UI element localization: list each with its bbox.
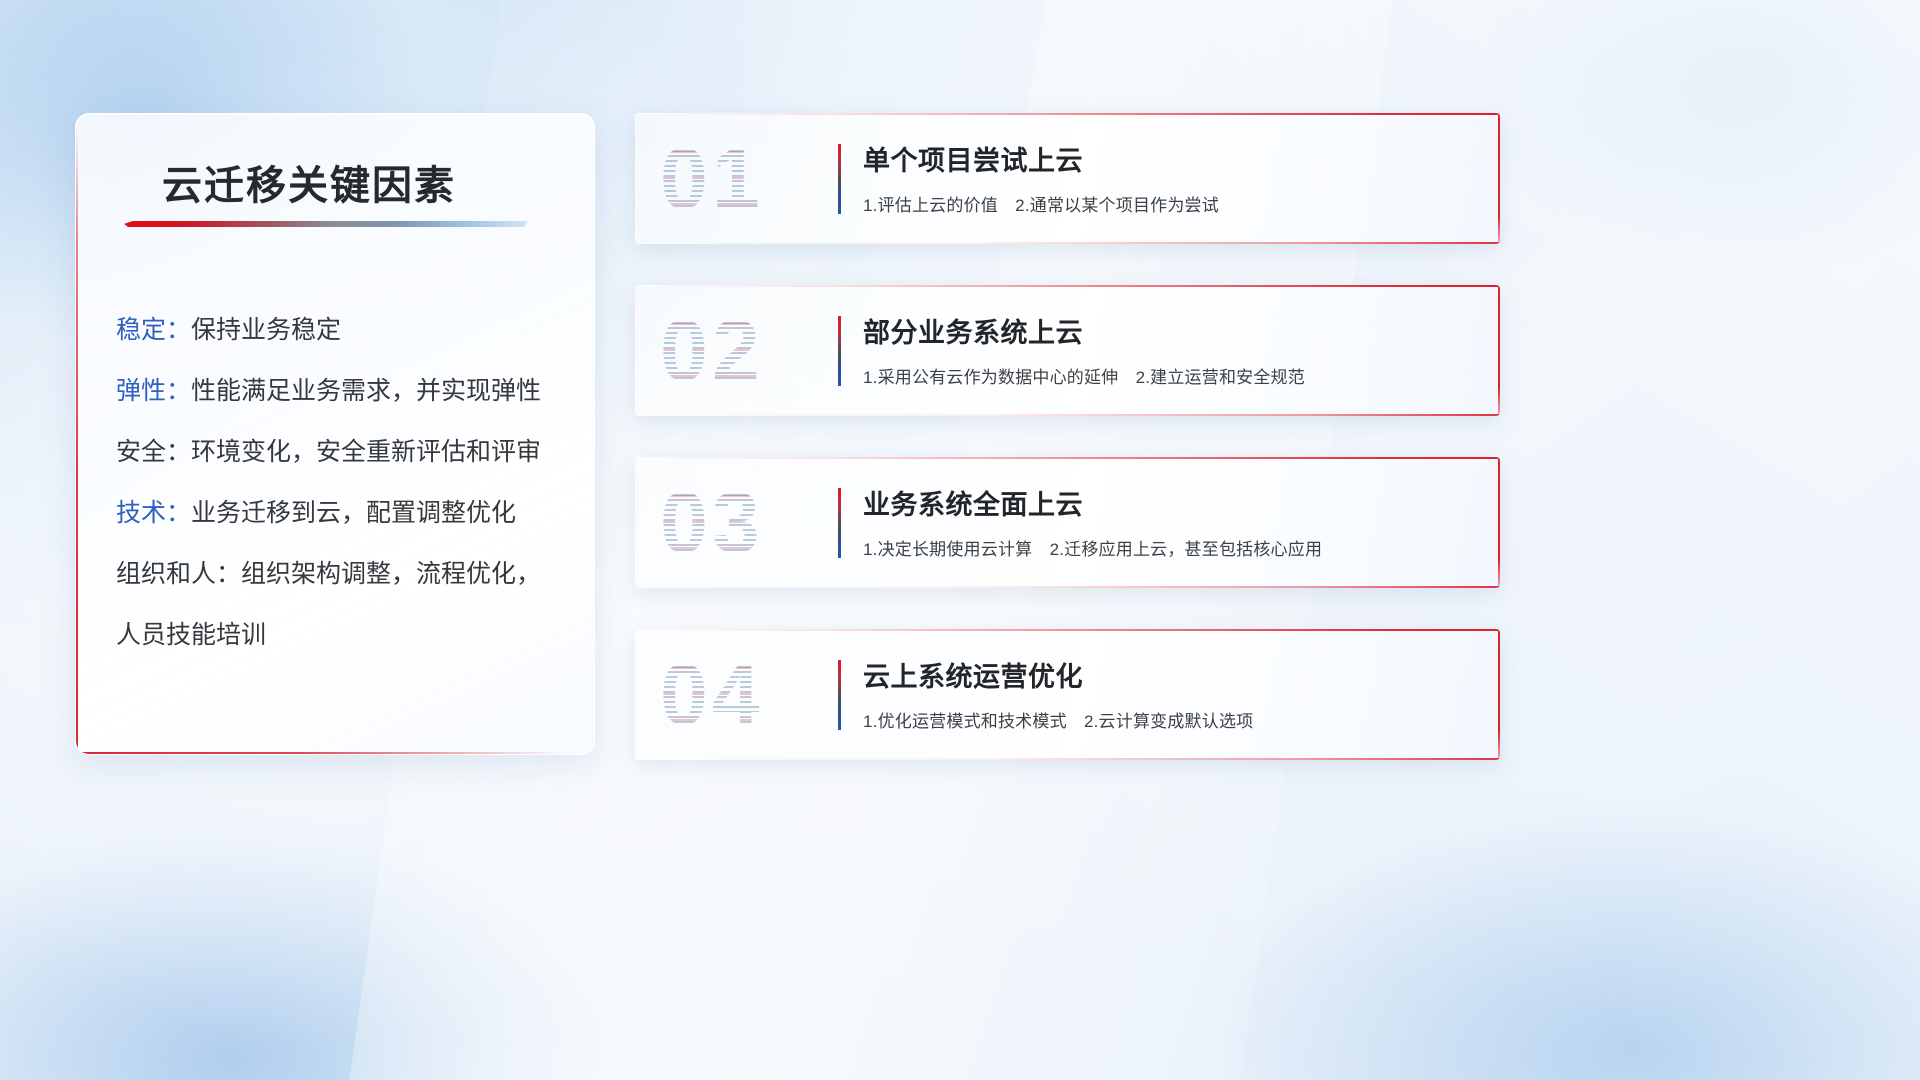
stage-title-01: 单个项目尝试上云 bbox=[863, 139, 1083, 178]
stage-subtitle-01: 1.评估上云的价值 2.通常以某个项目作为尝试 bbox=[863, 191, 1219, 216]
key-factors-card: 云迁移关键因素 稳定：保持业务稳定 弹性：性能满足业务需求，并实现弹性 安全：环… bbox=[75, 113, 595, 755]
stage-bottom-accent bbox=[635, 242, 1500, 244]
list-item-text: 保持业务稳定 bbox=[191, 316, 341, 344]
list-item-text: 业务迁移到云，配置调整优化 bbox=[191, 499, 516, 527]
stage-card-03[interactable]: 03 03 业务系统全面上云 1.决定长期使用云计算 2.迁移应用上云，甚至包括… bbox=[635, 457, 1500, 588]
list-item-key: 弹性： bbox=[116, 377, 191, 405]
list-item: 稳定：保持业务稳定 bbox=[116, 300, 568, 361]
stage-bottom-accent bbox=[635, 586, 1500, 588]
list-item-key: 安全： bbox=[116, 438, 191, 466]
stage-subtitle-03: 1.决定长期使用云计算 2.迁移应用上云，甚至包括核心应用 bbox=[863, 535, 1322, 560]
stage-number-accent-01: 01 bbox=[660, 125, 810, 233]
stage-bottom-accent bbox=[635, 414, 1500, 416]
stage-divider-bar bbox=[838, 660, 841, 730]
list-item-text: 性能满足业务需求，并实现弹性 bbox=[191, 377, 541, 405]
list-item: 技术：业务迁移到云，配置调整优化 bbox=[116, 483, 568, 544]
list-item-key: 技术： bbox=[116, 499, 191, 527]
title-gradient-underline bbox=[124, 221, 528, 227]
stage-subtitle-02: 1.采用公有云作为数据中心的延伸 2.建立运营和安全规范 bbox=[863, 363, 1305, 388]
list-item-key: 组织和人： bbox=[116, 560, 241, 588]
list-item-text: 组织架构调整，流程优化， bbox=[241, 560, 541, 588]
list-item-text: 环境变化，安全重新评估和评审 bbox=[191, 438, 541, 466]
stage-bottom-accent bbox=[635, 758, 1500, 760]
stage-card-02[interactable]: 02 02 部分业务系统上云 1.采用公有云作为数据中心的延伸 2.建立运营和安… bbox=[635, 285, 1500, 416]
list-item-continuation: 人员技能培训 bbox=[116, 605, 568, 666]
stage-divider-bar bbox=[838, 488, 841, 558]
stage-number-accent-04: 04 bbox=[660, 641, 810, 749]
list-item: 组织和人：组织架构调整，流程优化， bbox=[116, 544, 568, 605]
stage-divider-bar bbox=[838, 316, 841, 386]
key-factors-list: 稳定：保持业务稳定 弹性：性能满足业务需求，并实现弹性 安全：环境变化，安全重新… bbox=[116, 300, 568, 666]
stage-title-04: 云上系统运营优化 bbox=[863, 655, 1083, 694]
list-item-text: 人员技能培训 bbox=[116, 621, 266, 649]
stage-title-02: 部分业务系统上云 bbox=[863, 311, 1083, 350]
stage-subtitle-04: 1.优化运营模式和技术模式 2.云计算变成默认选项 bbox=[863, 707, 1253, 732]
stage-number-accent-02: 02 bbox=[660, 297, 810, 405]
stage-card-01[interactable]: 01 01 单个项目尝试上云 1.评估上云的价值 2.通常以某个项目作为尝试 bbox=[635, 113, 1500, 244]
list-item-key: 稳定： bbox=[116, 316, 191, 344]
stage-title-03: 业务系统全面上云 bbox=[863, 483, 1083, 522]
stage-card-04[interactable]: 04 04 云上系统运营优化 1.优化运营模式和技术模式 2.云计算变成默认选项 bbox=[635, 629, 1500, 760]
list-item: 安全：环境变化，安全重新评估和评审 bbox=[116, 422, 568, 483]
key-factors-title: 云迁移关键因素 bbox=[162, 153, 456, 211]
stage-number-accent-03: 03 bbox=[660, 469, 810, 577]
list-item: 弹性：性能满足业务需求，并实现弹性 bbox=[116, 361, 568, 422]
stage-divider-bar bbox=[838, 144, 841, 214]
